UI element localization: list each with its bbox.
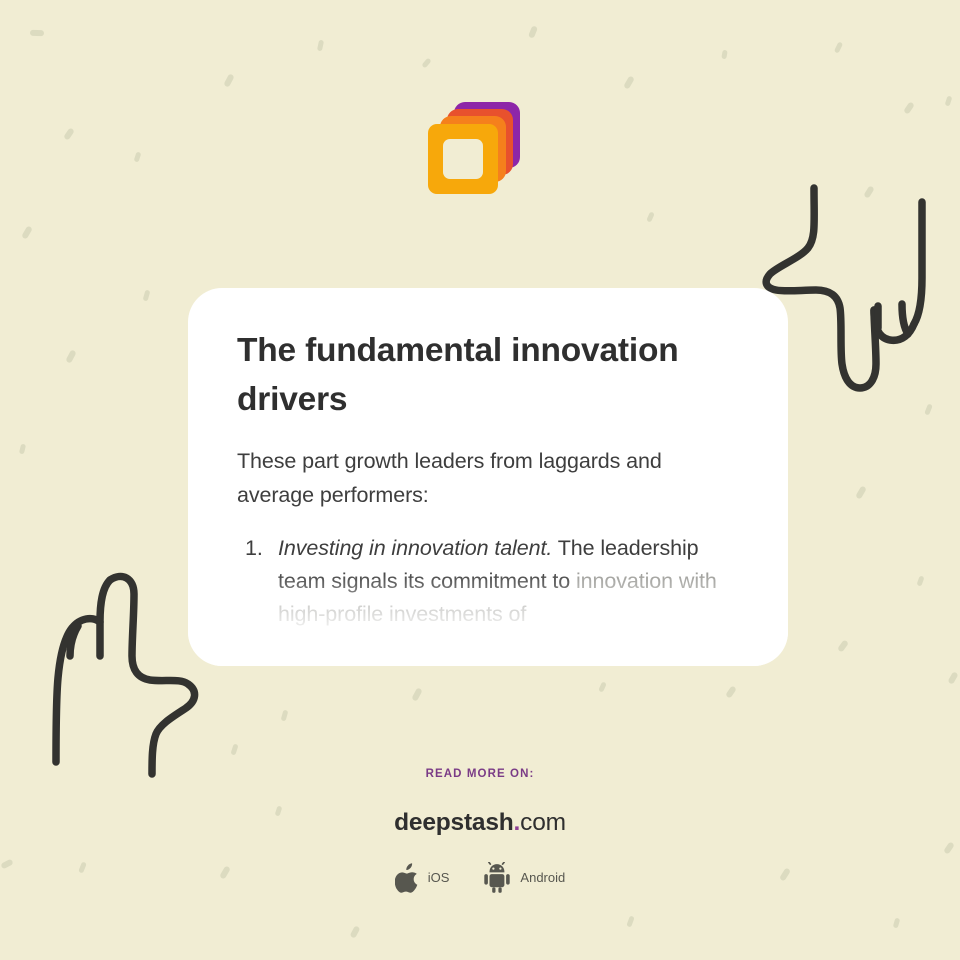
brand-name: deepstash xyxy=(394,809,513,836)
speckle xyxy=(598,681,607,692)
speckle xyxy=(855,485,867,499)
speckle xyxy=(421,58,431,69)
speckle xyxy=(916,575,924,586)
speckle xyxy=(947,671,958,684)
speckle xyxy=(350,925,361,938)
logo-layer-amber xyxy=(428,124,498,194)
speckle xyxy=(21,225,33,239)
speckle xyxy=(223,73,234,87)
social-card-image: The fundamental innovation drivers These… xyxy=(0,0,960,960)
card-list: 1. Investing in innovation talent. The l… xyxy=(237,532,738,631)
footer: READ MORE ON: deepstash.com iOS xyxy=(0,768,960,893)
speckle xyxy=(903,101,915,114)
speckle xyxy=(143,290,151,302)
speckle xyxy=(837,639,849,652)
read-more-label: READ MORE ON: xyxy=(0,768,960,780)
speckle xyxy=(134,151,142,162)
card-title: The fundamental innovation drivers xyxy=(237,326,738,424)
brand-wordmark: deepstash.com xyxy=(0,809,960,837)
list-item-lead: Investing in innovation talent. xyxy=(278,536,552,560)
idea-card: The fundamental innovation drivers These… xyxy=(188,288,788,666)
speckle xyxy=(721,50,727,60)
speckle xyxy=(834,41,843,53)
card-intro-text: These part growth leaders from laggards … xyxy=(237,445,738,512)
list-item-marker: 1. xyxy=(245,532,263,565)
speckle xyxy=(230,743,238,755)
speckle xyxy=(725,685,737,698)
speckle xyxy=(646,211,655,222)
brand-tld: com xyxy=(520,809,566,836)
speckle xyxy=(411,687,422,701)
speckle xyxy=(893,918,901,929)
store-label-android: Android xyxy=(520,870,565,885)
android-icon xyxy=(482,862,512,893)
store-badge-ios[interactable]: iOS xyxy=(395,863,450,893)
speckle xyxy=(863,185,874,198)
deepstash-logo xyxy=(428,102,520,194)
apple-icon xyxy=(395,863,420,893)
store-badge-android[interactable]: Android xyxy=(482,862,565,893)
store-label-ios: iOS xyxy=(428,870,450,885)
speckle xyxy=(30,30,44,36)
speckle xyxy=(945,95,953,106)
speckle xyxy=(281,710,289,722)
speckle xyxy=(924,403,933,415)
speckle xyxy=(626,915,634,927)
speckle xyxy=(317,40,324,52)
speckle xyxy=(65,349,76,363)
speckle xyxy=(623,75,635,89)
list-item-body-truncated: innovation with high-profile investments… xyxy=(278,569,717,626)
pointing-hand-doodle-top-right xyxy=(762,178,960,403)
speckle xyxy=(528,25,538,38)
logo-inner-cutout xyxy=(443,139,483,179)
speckle xyxy=(63,127,75,140)
store-badges: iOS A xyxy=(0,862,960,893)
list-item: 1. Investing in innovation talent. The l… xyxy=(237,532,738,631)
speckle xyxy=(19,444,26,455)
